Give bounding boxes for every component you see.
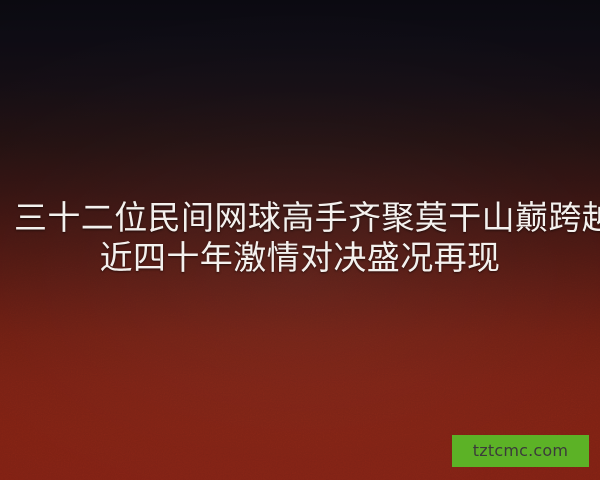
watermark-label: tztcmc.com (473, 443, 568, 459)
banner-image: 三十二位民间网球高手齐聚莫干山巅跨越 近四十年激情对决盛况再现 tztcmc.c… (0, 0, 600, 480)
title-line-2: 近四十年激情对决盛况再现 (14, 238, 586, 278)
page-title: 三十二位民间网球高手齐聚莫干山巅跨越 近四十年激情对决盛况再现 (0, 198, 600, 278)
watermark-badge[interactable]: tztcmc.com (452, 435, 589, 467)
title-line-1: 三十二位民间网球高手齐聚莫干山巅跨越 (14, 198, 586, 238)
